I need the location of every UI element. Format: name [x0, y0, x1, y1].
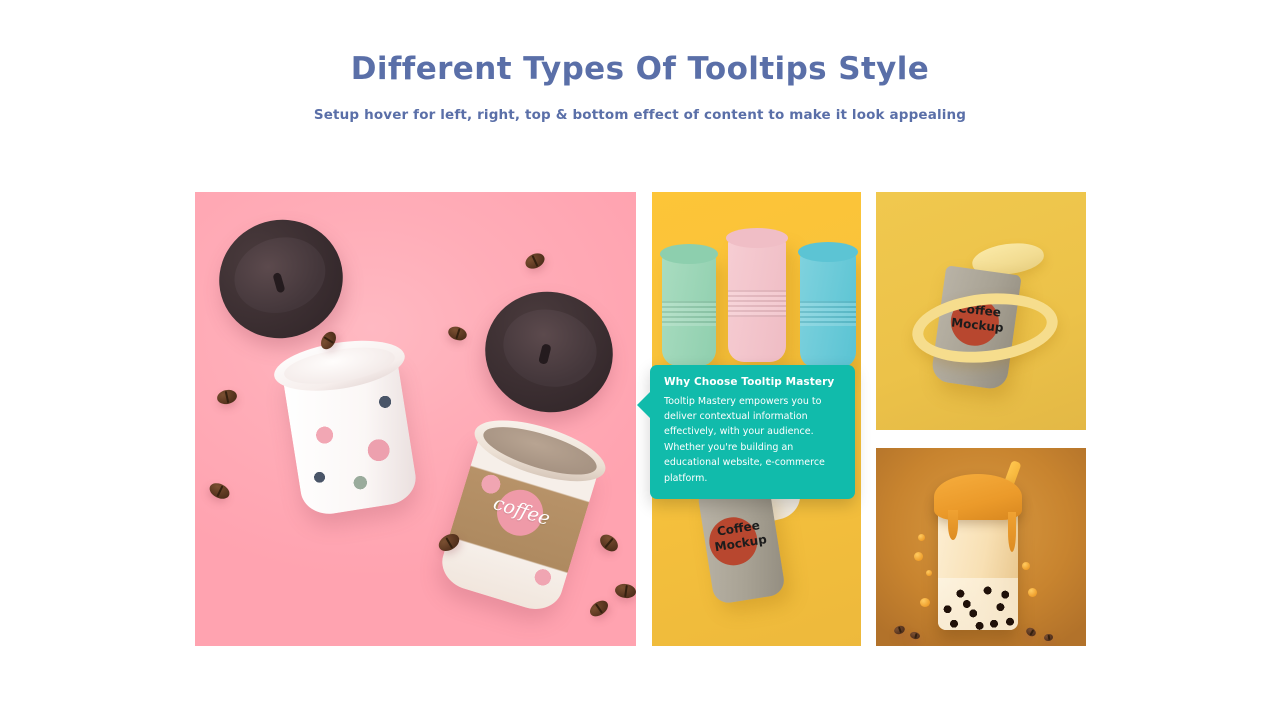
- reusable-mug-blue: [800, 252, 856, 368]
- gallery-tile-coffee-mockup-yellow[interactable]: Coffee Mockup: [876, 192, 1086, 430]
- mug-grip-band: [800, 301, 856, 327]
- page-subtitle: Setup hover for left, right, top & botto…: [0, 107, 1280, 125]
- mug-lid: [726, 228, 789, 248]
- floral-paper-cup: [271, 333, 428, 520]
- tooltip-title: Why Choose Tooltip Mastery: [664, 376, 841, 390]
- caramel-droplet: [914, 552, 923, 561]
- caramel-droplet: [1028, 588, 1037, 597]
- reusable-mug-pink: [728, 238, 786, 362]
- page-root: Different Types Of Tooltips Style Setup …: [0, 0, 1280, 720]
- caramel-droplet: [918, 534, 925, 541]
- page-header: Different Types Of Tooltips Style Setup …: [0, 50, 1280, 124]
- tooltip-gallery-grid: coffee: [195, 192, 1086, 646]
- caramel-droplet: [920, 598, 930, 607]
- mug-lid: [660, 244, 718, 264]
- gallery-tile-bubble-tea-caramel[interactable]: [876, 448, 1086, 646]
- reusable-mug-green: [662, 254, 716, 366]
- mug-lid: [798, 242, 858, 262]
- tooltip-popover[interactable]: Why Choose Tooltip Mastery Tooltip Maste…: [650, 365, 855, 499]
- caramel-droplet: [926, 570, 932, 576]
- tapioca-pearls: [938, 578, 1018, 630]
- mug-grip-band: [662, 301, 716, 326]
- tooltip-body: Tooltip Mastery empowers you to deliver …: [664, 394, 841, 486]
- mug-grip-band: [728, 290, 786, 317]
- caramel-droplet: [1022, 562, 1030, 570]
- gallery-tile-coffee-cups-pink-scene[interactable]: coffee: [195, 192, 636, 646]
- page-title: Different Types Of Tooltips Style: [0, 50, 1280, 89]
- caramel-drip: [1008, 512, 1016, 552]
- caramel-drip: [948, 510, 958, 540]
